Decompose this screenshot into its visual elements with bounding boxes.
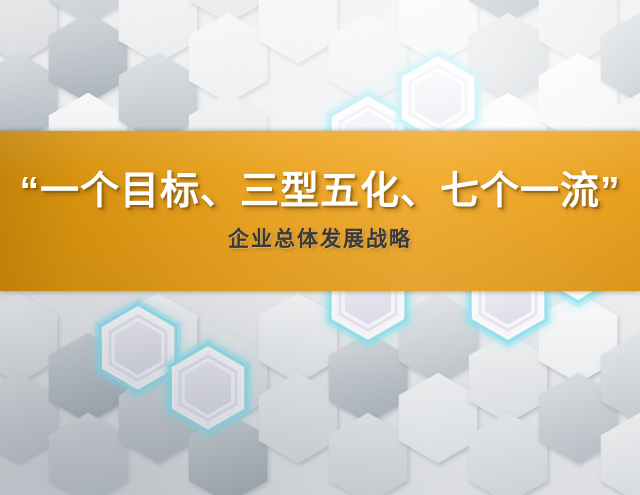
hexagon-tile [49,413,127,495]
hexagon-tile [259,0,337,63]
hexagon-tile [119,53,197,144]
glowing-hexagon-tile [169,342,248,433]
title-banner: “一个目标、三型五化、七个一流” 企业总体发展战略 [0,131,640,291]
hexagon-tile [329,413,407,495]
hexagon-tile [0,293,57,384]
hexagon-tile [0,373,57,464]
hexagon-tile [189,13,267,104]
title-banner-content: “一个目标、三型五化、七个一流” 企业总体发展战略 [0,131,640,291]
hexagon-tile [469,413,547,495]
title-slide: “一个目标、三型五化、七个一流” 企业总体发展战略 [0,0,640,495]
hexagon-tile [259,373,337,464]
hexagon-tile [0,0,57,63]
hexagon-tile [0,53,57,144]
hexagon-tile [49,13,127,104]
page-title: “一个目标、三型五化、七个一流” [19,172,620,211]
page-subtitle: 企业总体发展战略 [228,229,412,250]
hexagon-tile [399,373,477,464]
